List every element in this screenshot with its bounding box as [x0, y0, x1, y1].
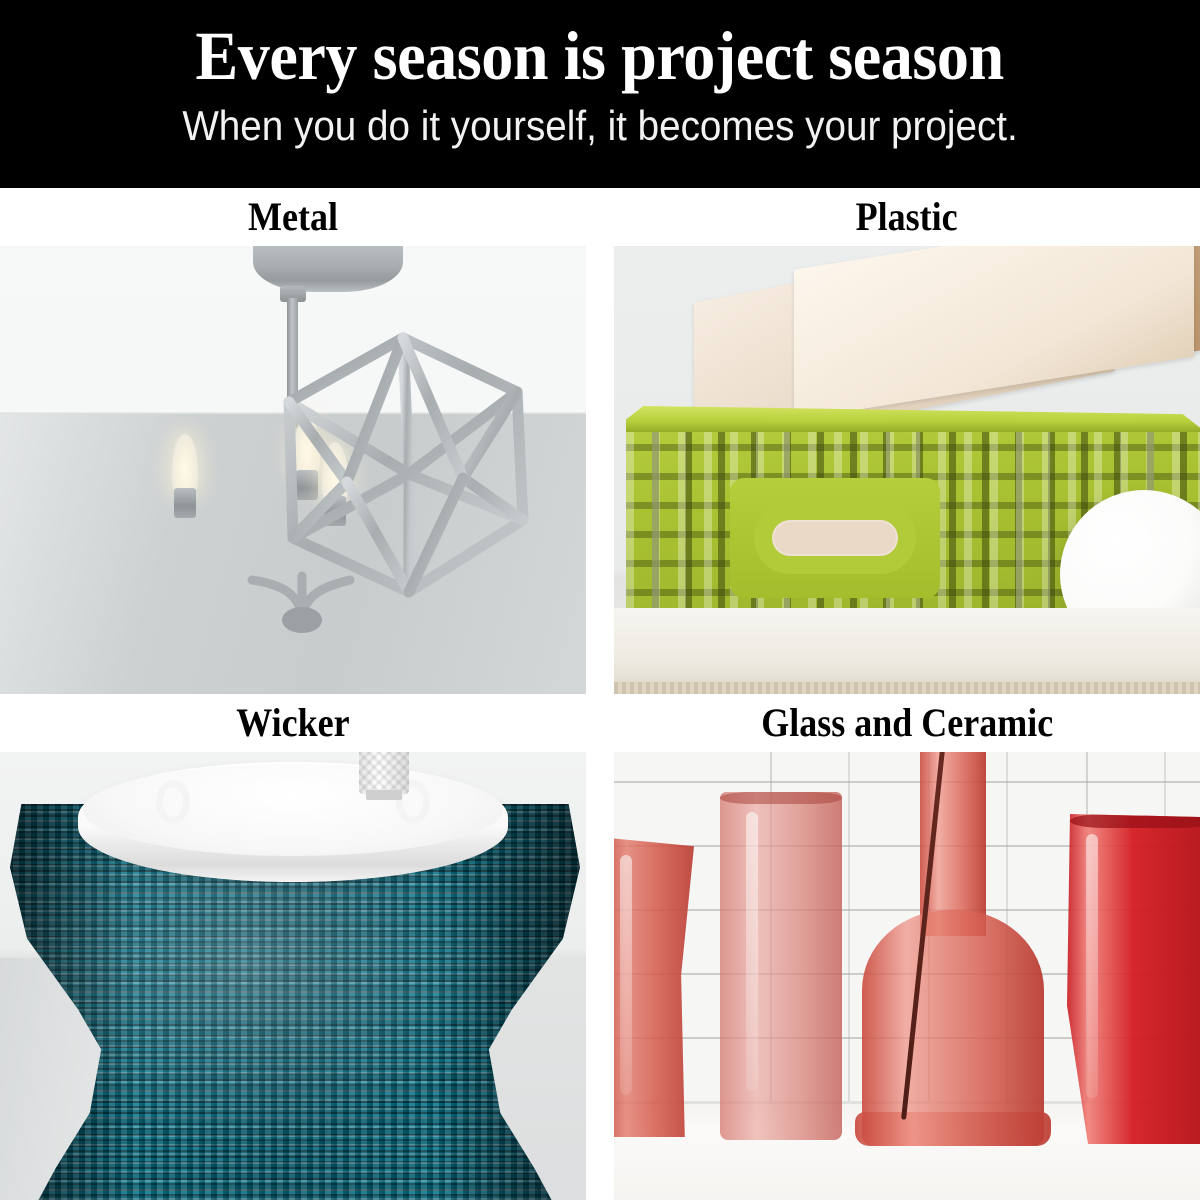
wicker-room-background	[0, 752, 586, 1200]
category-photo-wicker[interactable]	[0, 752, 586, 1200]
bottle-foot	[855, 1112, 1051, 1146]
category-label-glass-and-ceramic: Glass and Ceramic	[614, 694, 1200, 752]
category-cell-metal[interactable]: Metal	[0, 188, 586, 694]
category-label-plastic: Plastic	[614, 188, 1200, 246]
kitchen-counter-background	[614, 752, 1200, 1200]
red-glass-tumbler-vase-right	[1064, 814, 1200, 1144]
page-subtitle: When you do it yourself, it becomes your…	[182, 100, 1017, 152]
category-cell-plastic[interactable]: Plastic	[614, 188, 1200, 694]
shelf-edge-trim	[614, 682, 1200, 694]
category-photo-metal[interactable]	[0, 246, 586, 694]
category-cell-wicker[interactable]: Wicker	[0, 694, 586, 1200]
category-photo-glass-and-ceramic[interactable]	[614, 752, 1200, 1200]
header-banner: Every season is project season When you …	[0, 0, 1200, 188]
glass-highlight	[746, 812, 758, 1090]
promo-page: Every season is project season When you …	[0, 0, 1200, 1200]
glass-highlight	[1086, 834, 1098, 1098]
category-cell-glass-and-ceramic[interactable]: Glass and Ceramic	[614, 694, 1200, 1200]
category-label-metal: Metal	[0, 188, 586, 246]
tray-handle-left	[156, 780, 190, 824]
page-title: Every season is project season	[196, 18, 1004, 94]
category-label-wicker: Wicker	[0, 694, 586, 752]
metal-room-background	[0, 246, 586, 694]
red-glass-bottle-vase	[862, 752, 1044, 1146]
chandelier-arms	[222, 536, 382, 626]
shelf-surface	[614, 608, 1200, 694]
pink-glass-cylinder-vase	[720, 792, 842, 1140]
tray-top-surface	[83, 764, 503, 856]
vase-base	[366, 790, 402, 800]
category-photo-plastic[interactable]	[614, 246, 1200, 694]
white-round-tray	[78, 762, 508, 882]
category-grid: Metal	[0, 188, 1200, 1200]
basket-oval-handle	[754, 502, 916, 574]
plastic-shelf-background	[614, 246, 1200, 694]
glass-highlight	[620, 855, 632, 1095]
bottle-body	[862, 910, 1044, 1146]
light-canopy	[253, 246, 403, 292]
paper-folders-group	[674, 246, 1200, 416]
white-textured-vase	[359, 752, 409, 794]
